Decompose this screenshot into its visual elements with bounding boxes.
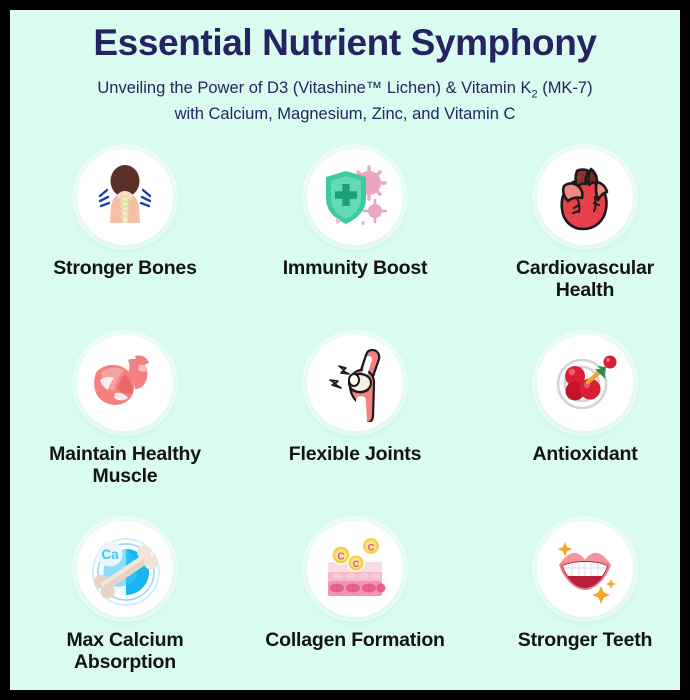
benefit-label: Collagen Formation bbox=[240, 630, 470, 652]
benefit-item: Immunity Boost bbox=[240, 149, 470, 335]
knee-joint-icon bbox=[316, 344, 394, 422]
benefit-icon-badge: C C C bbox=[307, 521, 403, 617]
benefit-item: Stronger Teeth bbox=[470, 521, 680, 690]
benefit-icon-badge bbox=[307, 149, 403, 245]
benefit-icon-badge bbox=[77, 149, 173, 245]
spine-back-pain-icon bbox=[87, 159, 163, 235]
benefit-item: Maintain HealthyMuscle bbox=[10, 335, 240, 521]
benefit-label: Max CalciumAbsorption bbox=[10, 630, 240, 674]
benefit-item: C C C Collag bbox=[240, 521, 470, 690]
free-radical-molecule-icon bbox=[546, 344, 624, 422]
svg-text:C: C bbox=[353, 559, 360, 569]
subtitle-line2: with Calcium, Magnesium, Zinc, and Vitam… bbox=[175, 105, 516, 123]
shield-virus-icon bbox=[317, 159, 393, 235]
subtitle-line1-part-b: (MK-7) bbox=[538, 79, 593, 97]
benefit-label: Flexible Joints bbox=[240, 444, 470, 466]
smiling-mouth-teeth-icon bbox=[545, 529, 625, 609]
benefit-item: CardiovascularHealth bbox=[470, 149, 680, 335]
benefit-icon-badge bbox=[537, 521, 633, 617]
benefit-icon-badge bbox=[537, 335, 633, 431]
benefit-label: Stronger Teeth bbox=[470, 630, 680, 652]
benefit-item: Stronger Bones bbox=[10, 149, 240, 335]
benefit-item: Flexible Joints bbox=[240, 335, 470, 521]
heart-icon bbox=[547, 159, 623, 235]
benefit-label: Stronger Bones bbox=[10, 258, 240, 280]
skin-layers-vitamin-c-icon: C C C bbox=[316, 530, 394, 608]
subtitle-line1-part-a: Unveiling the Power of D3 (Vitashine™ Li… bbox=[97, 79, 531, 97]
benefit-icon-badge bbox=[77, 335, 173, 431]
poster-subtitle: Unveiling the Power of D3 (Vitashine™ Li… bbox=[35, 77, 655, 127]
svg-text:C: C bbox=[368, 542, 375, 553]
benefit-label: Maintain HealthyMuscle bbox=[10, 444, 240, 488]
benefit-icon-badge: Ca bbox=[77, 521, 173, 617]
benefit-label: Immunity Boost bbox=[240, 258, 470, 280]
benefits-grid: Stronger Bones bbox=[10, 149, 680, 690]
benefit-item: Antioxidant bbox=[470, 335, 680, 521]
poster-header: Essential Nutrient Symphony Unveiling th… bbox=[10, 10, 680, 127]
svg-text:Ca: Ca bbox=[101, 547, 119, 562]
benefit-label: CardiovascularHealth bbox=[470, 258, 680, 302]
calcium-bone-icon: Ca bbox=[86, 530, 164, 608]
benefit-item: Ca Max CalciumAbsorption bbox=[10, 521, 240, 690]
flexed-biceps-icon bbox=[85, 343, 165, 423]
page-title: Essential Nutrient Symphony bbox=[10, 24, 680, 63]
benefit-icon-badge bbox=[537, 149, 633, 245]
benefit-label: Antioxidant bbox=[470, 444, 680, 466]
poster-canvas: Essential Nutrient Symphony Unveiling th… bbox=[10, 10, 680, 690]
benefit-icon-badge bbox=[307, 335, 403, 431]
svg-text:C: C bbox=[337, 552, 344, 563]
